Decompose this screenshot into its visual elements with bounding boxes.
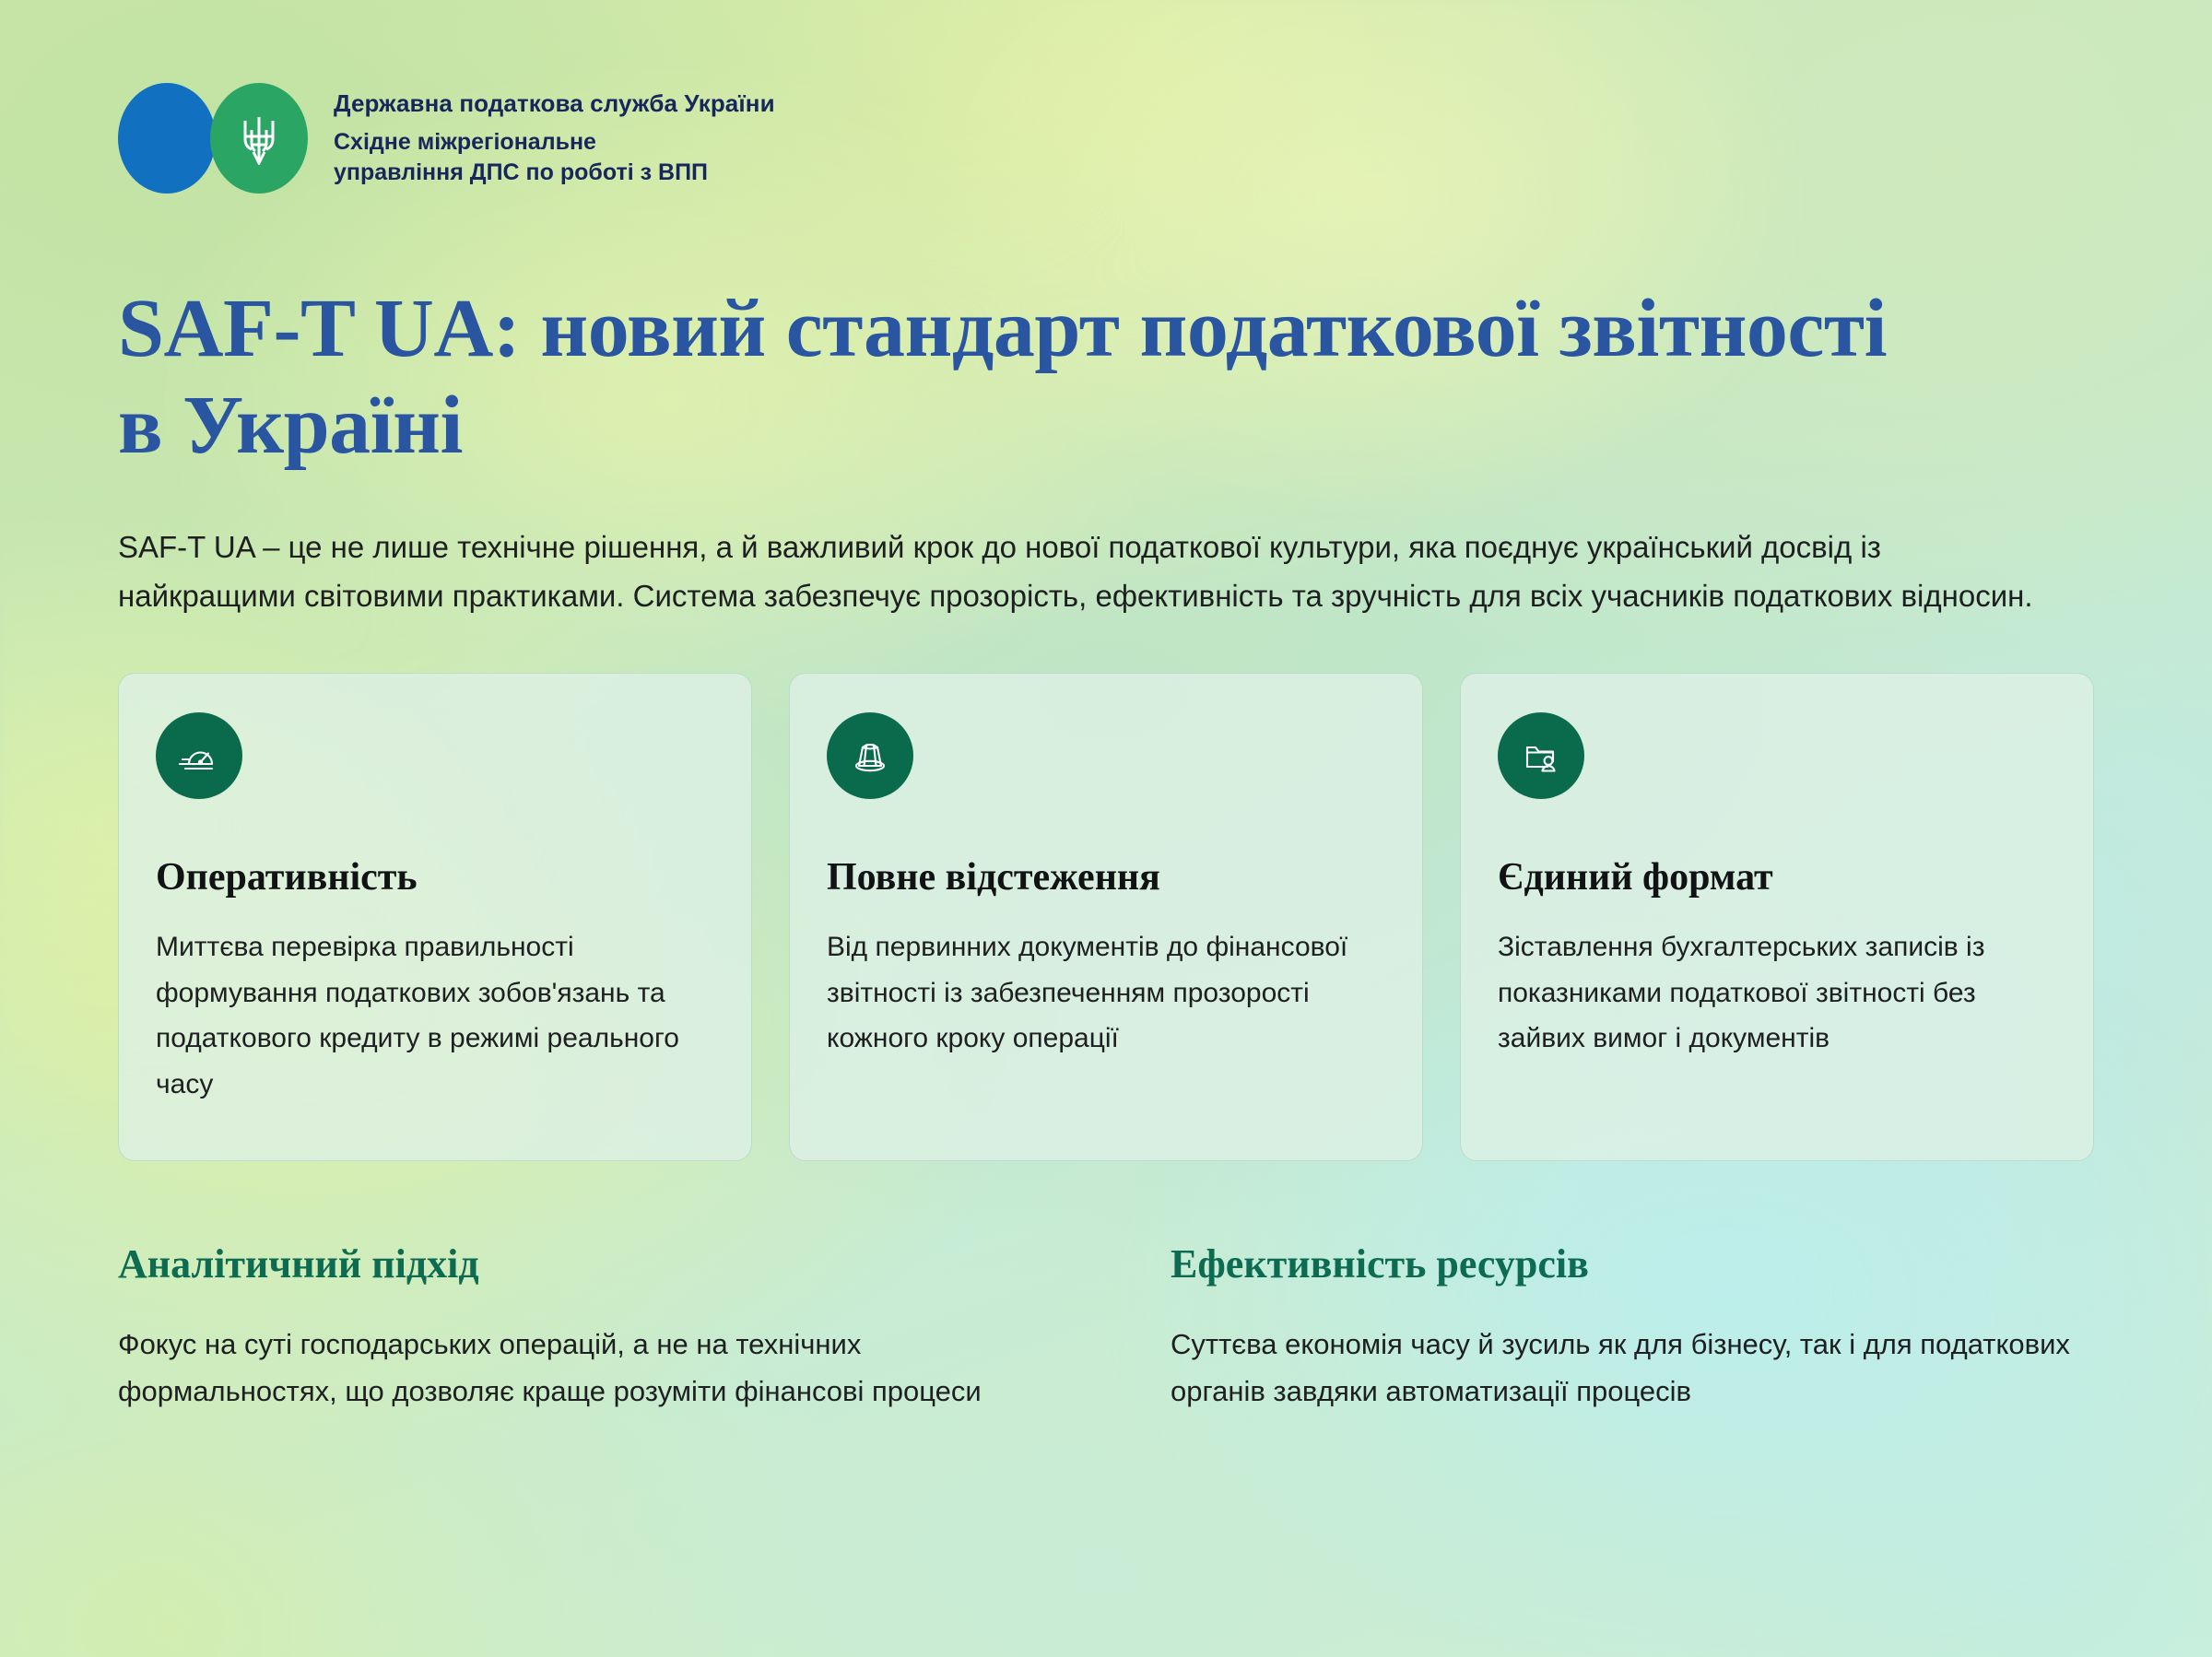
- brand-header: Державна податкова служба України Східне…: [118, 0, 2094, 194]
- logo: [118, 83, 308, 194]
- highlight-column: Ефективність ресурсів Суттєва економія ч…: [1171, 1240, 2094, 1415]
- brand-text-block: Державна податкова служба України Східне…: [334, 88, 775, 189]
- card-body: Зіставлення бухгалтерських записів із по…: [1498, 924, 2056, 1062]
- intro-paragraph: SAF-T UA – це не лише технічне рішення, …: [118, 523, 2053, 621]
- highlight-body: Суттєва економія часу й зусиль як для бі…: [1171, 1322, 2094, 1414]
- highlight-title: Аналітичний підхід: [118, 1240, 1041, 1289]
- card-title: Повне відстеження: [827, 854, 1385, 900]
- feature-card: Повне відстеження Від первинних документ…: [789, 673, 1423, 1161]
- card-body: Миттєва перевірка правильності формуванн…: [156, 924, 714, 1108]
- brand-subtitle-line-2: управління ДПС по роботі з ВПП: [334, 158, 775, 188]
- card-icon-badge: [156, 712, 242, 799]
- logo-blue-circle: [118, 83, 216, 194]
- page-title: SAF-T UA: новий стандарт податкової звіт…: [118, 280, 1924, 475]
- card-title: Єдиний формат: [1498, 854, 2056, 900]
- highlight-section: Аналітичний підхід Фокус на суті господа…: [118, 1240, 2094, 1415]
- feature-card-list: Оперативність Миттєва перевірка правильн…: [118, 673, 2094, 1161]
- card-icon-badge: [827, 712, 913, 799]
- highlight-body: Фокус на суті господарських операцій, а …: [118, 1322, 1041, 1414]
- logo-green-circle: [210, 83, 308, 194]
- radar-dome-icon: [847, 733, 893, 779]
- card-title: Оперативність: [156, 854, 714, 900]
- infographic-page: Державна податкова служба України Східне…: [0, 0, 2212, 1657]
- highlight-title: Ефективність ресурсів: [1171, 1240, 2094, 1289]
- card-icon-badge: [1498, 712, 1584, 799]
- brand-subtitle-line-1: Східне міжрегіональне: [334, 127, 775, 158]
- folder-user-icon: [1518, 733, 1564, 779]
- ukraine-trident-icon: [238, 112, 280, 165]
- highlight-column: Аналітичний підхід Фокус на суті господа…: [118, 1240, 1041, 1415]
- speedometer-icon: [176, 733, 222, 779]
- brand-title: Державна податкова служба України: [334, 88, 775, 119]
- card-body: Від первинних документів до фінансової з…: [827, 924, 1385, 1062]
- feature-card: Єдиний формат Зіставлення бухгалтерських…: [1460, 673, 2094, 1161]
- feature-card: Оперативність Миттєва перевірка правильн…: [118, 673, 752, 1161]
